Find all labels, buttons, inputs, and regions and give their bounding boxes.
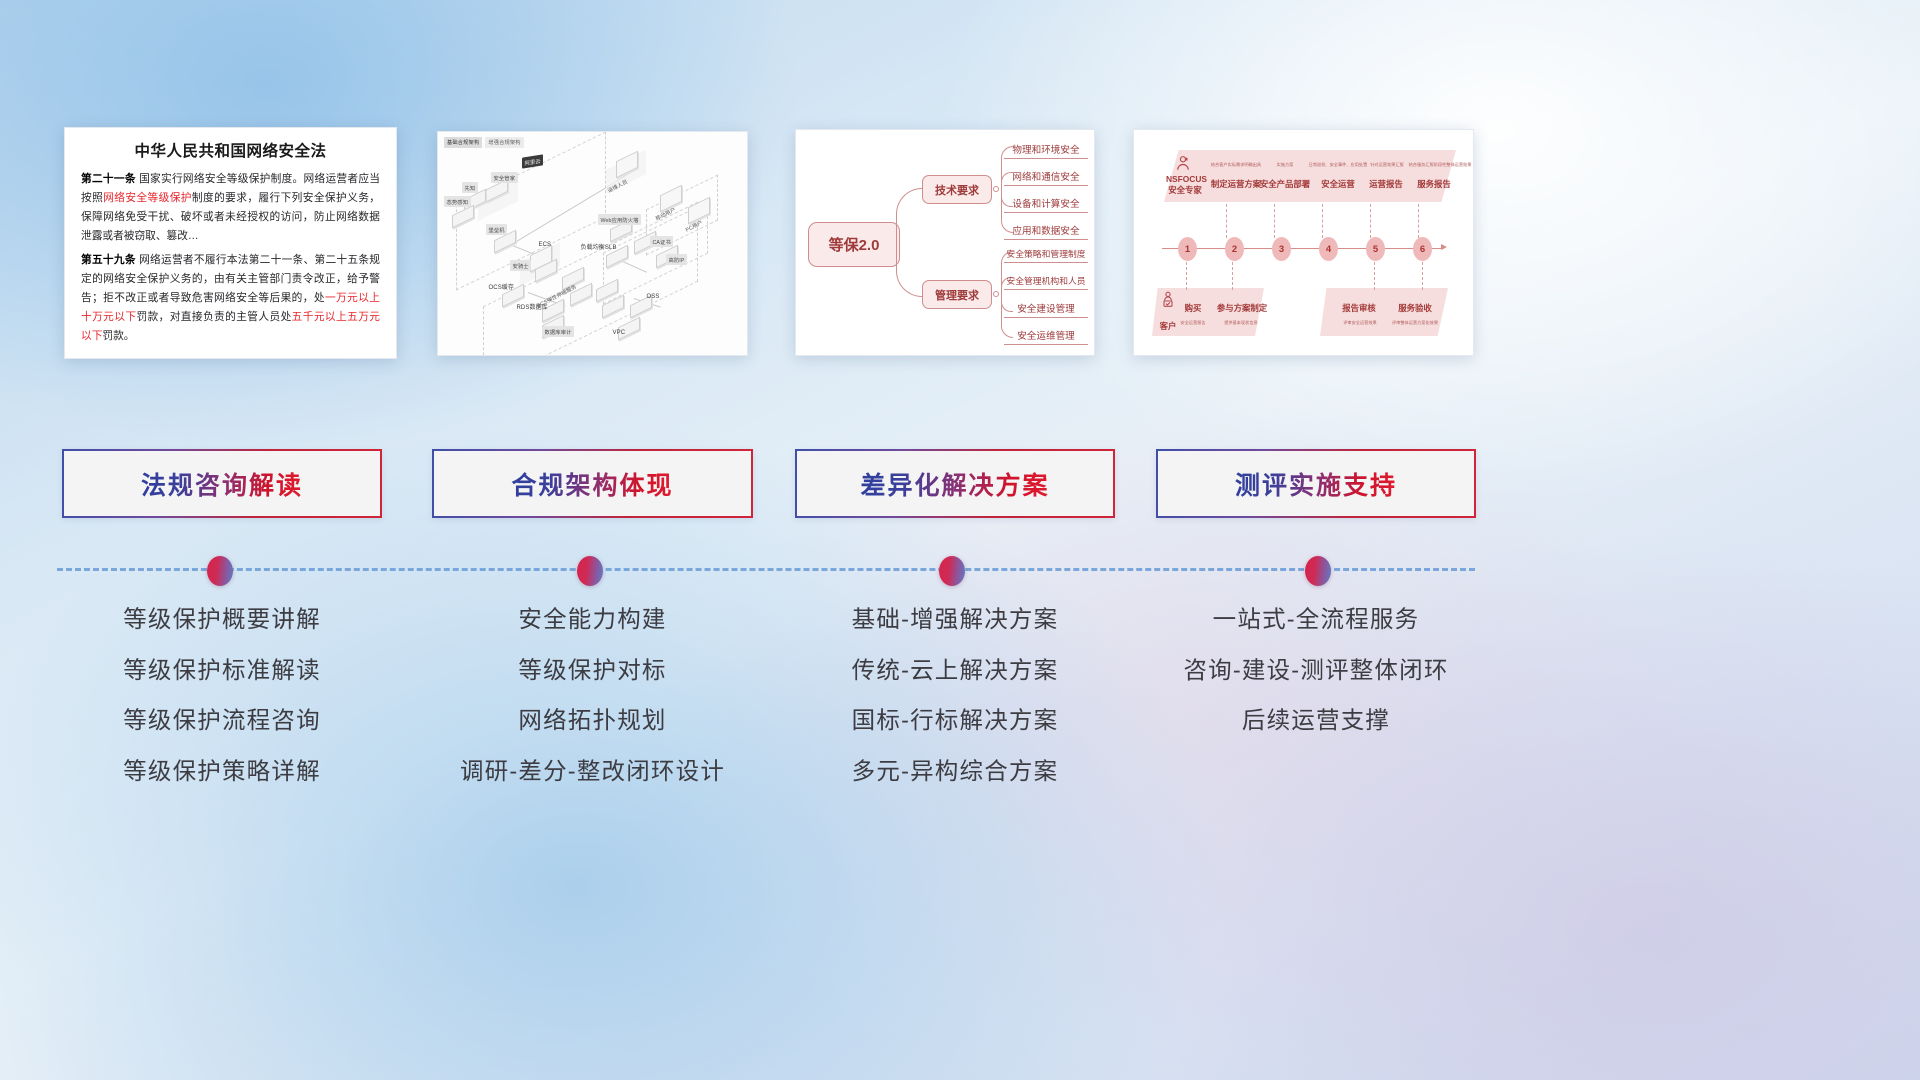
label-ca-cert: CA证书 [650,236,673,247]
list-item: 网络拓扑规划 [432,709,753,733]
mindmap-leaf-network-comm: 网络和通信安全 [1004,169,1088,186]
card-mindmap-dengbao[interactable]: 等保2.0 技术要求 管理要求 物理和环境安全 网络和通信安全 设备和计算安全 … [795,129,1095,356]
list-item: 等级保护概要讲解 [62,608,382,632]
card-compliance-architecture[interactable]: 基础合规架构 增强合规架构 阿里云 安全管家 [437,131,748,356]
tab-basic-architecture[interactable]: 基础合规架构 [444,137,482,148]
mindmap-root: 等保2.0 [808,222,900,267]
list-item: 调研-差分-整改闭环设计 [432,760,753,784]
mindmap-leaf-device-compute: 设备和计算安全 [1004,196,1088,213]
section-header-row: 法规咨询解读 合规架构体现 差异化解决方案 测评实施支持 [0,449,1920,519]
mindmap-leaf-physical-env: 物理和环境安全 [1004,142,1088,159]
bottom-title-4: 服务验收 [1392,302,1438,314]
dash-top-2 [1226,204,1227,238]
timeline-marker-1[interactable] [207,556,233,586]
list-item: 等级保护标准解读 [62,659,382,683]
timeline-dashed-line [57,568,1475,571]
step-circle-6[interactable]: 6 [1413,237,1432,261]
label-anqishi: 安骑士 [510,260,531,271]
list-item: 等级保护策略详解 [62,760,382,784]
label-bastion-host: 堡垒机 [486,224,507,235]
dash-bottom-4 [1422,262,1423,290]
list-item: 多元-异构综合方案 [795,760,1115,784]
section-header-regulation-consulting[interactable]: 法规咨询解读 [62,449,382,518]
dash-bottom-2 [1232,262,1233,290]
list-item: 国标-行标解决方案 [795,709,1115,733]
label-security-steward: 安全管家 [491,172,518,183]
process-timeline [0,568,1920,572]
collapse-dot-management[interactable] [993,291,999,297]
architecture-tabs: 基础合规架构 增强合规架构 [444,137,524,148]
clause-59-text-c: 罚款。 [102,330,134,342]
step-circle-2[interactable]: 2 [1225,237,1244,261]
law-clause-21: 第二十一条 国家实行网络安全等级保护制度。网络运营者应当按照网络安全等级保护制度… [81,170,380,246]
list-item: 一站式-全流程服务 [1156,608,1476,632]
bottom-sub-4: 评审整体运营方案化效果 [1384,320,1446,326]
clause-59-text-b: 罚款，对直接负责的主管人员处 [136,311,291,323]
label-slb: 负载均衡SLB [578,240,619,252]
label-ecs: ECS [536,240,554,249]
bullet-column-regulation-consulting: 等级保护概要讲解 等级保护标准解读 等级保护流程咨询 等级保护策略详解 [62,608,382,810]
timeline-axis [1162,248,1444,249]
law-clause-59: 第五十九条 网络运营者不履行本法第二十一条、第二十五条规定的网络安全保护义务的，… [81,251,380,346]
label-oss: OSS [644,292,662,301]
dash-top-6 [1418,204,1419,238]
bottom-title-2: 参与方案制定 [1214,302,1270,314]
list-item: 等级保护对标 [432,659,753,683]
clause-59-label: 第五十九条 [81,254,136,266]
mindmap-leaf-policy-system: 安全策略和管理制度 [1004,247,1088,263]
customer-person-icon [1160,290,1176,308]
timeline-marker-4[interactable] [1305,556,1331,586]
timeline-arrow-icon [1441,244,1447,250]
nsfocus-timeline: NSFOCUS 安全专家 客户 1 2 3 4 5 6 结合客户实际需求明确出具… [1134,130,1473,355]
step-circle-4[interactable]: 4 [1319,237,1338,261]
label-xianzhi: 先知 [462,182,478,193]
label-ocs-cache: OCS缓存 [486,280,517,292]
brand-name: NSFOCUS [1166,174,1204,184]
slide-canvas: 中华人民共和国网络安全法 第二十一条 国家实行网络安全等级保护制度。网络运营者应… [0,0,1920,1080]
timeline-marker-3[interactable] [939,556,965,586]
section-header-label-2: 合规架构体现 [511,466,673,502]
mindmap-leaf-ops-mgmt: 安全运维管理 [1004,328,1088,345]
label-vpc: VPC [610,328,628,337]
section-header-label-3: 差异化解决方案 [860,466,1049,502]
section-header-assessment-support[interactable]: 测评实施支持 [1156,449,1476,518]
mindmap-branch-technical: 技术要求 [922,175,992,204]
expert-band [1164,150,1456,202]
clause-21-highlight: 网络安全等级保护 [103,192,192,204]
bottom-title-3: 报告审核 [1336,302,1382,314]
bullet-column-compliance-architecture: 安全能力构建 等级保护对标 网络拓扑规划 调研-差分-整改闭环设计 [432,608,753,810]
brand-subtitle: 安全专家 [1166,184,1204,196]
card-cybersecurity-law[interactable]: 中华人民共和国网络安全法 第二十一条 国家实行网络安全等级保护制度。网络运营者应… [64,127,397,359]
dash-bottom-1 [1186,262,1187,290]
label-situation-awareness: 态势感知 [444,196,471,207]
label-waf: Web应用防火墙 [598,214,641,225]
list-item: 基础-增强解决方案 [795,608,1115,632]
section-header-differentiated-solutions[interactable]: 差异化解决方案 [795,449,1115,518]
mindmap-branch-management: 管理要求 [922,280,992,309]
mindmap-leaf-org-personnel: 安全管理机构和人员 [1004,274,1088,290]
dash-bottom-3 [1374,262,1375,290]
section-header-label-1: 法规咨询解读 [141,466,303,502]
collapse-dot-technical[interactable] [993,186,999,192]
dash-top-3 [1274,204,1275,238]
mindmap-diagram: 等保2.0 技术要求 管理要求 物理和环境安全 网络和通信安全 设备和计算安全 … [796,130,1094,355]
top-sub-5: 结合服务汇报阶段性整体运营效果 [1402,162,1474,168]
architecture-diagram: 基础合规架构 增强合规架构 阿里云 安全管家 [438,132,747,355]
section-header-label-4: 测评实施支持 [1235,466,1397,502]
dash-top-4 [1322,204,1323,238]
list-item: 传统-云上解决方案 [795,659,1115,683]
bullet-column-assessment-support: 一站式-全流程服务 咨询-建设-测评整体闭环 后续运营支撑 [1156,608,1476,760]
tab-enhanced-architecture[interactable]: 增强合规架构 [485,137,523,148]
card-service-process-timeline[interactable]: NSFOCUS 安全专家 客户 1 2 3 4 5 6 结合客户实际需求明确出具… [1133,129,1474,356]
top-title-5: 服务报告 [1406,178,1462,190]
dash-top-5 [1370,204,1371,238]
bottom-sub-2: 提供基本现状信息 [1216,320,1266,326]
bottom-title-1: 购买 [1178,302,1208,314]
list-item: 咨询-建设-测评整体闭环 [1156,659,1476,683]
bullet-column-differentiated-solutions: 基础-增强解决方案 传统-云上解决方案 国标-行标解决方案 多元-异构综合方案 [795,608,1115,810]
section-header-compliance-architecture[interactable]: 合规架构体现 [432,449,753,518]
list-item: 后续运营支撑 [1156,709,1476,733]
bottom-sub-1: 安全运营报告 [1174,320,1212,326]
mindmap-leaf-construction-mgmt: 安全建设管理 [1004,301,1088,318]
timeline-marker-2[interactable] [577,556,603,586]
law-body: 中华人民共和国网络安全法 第二十一条 国家实行网络安全等级保护制度。网络运营者应… [65,128,396,359]
list-item: 等级保护流程咨询 [62,709,382,733]
list-item: 安全能力构建 [432,608,753,632]
law-title: 中华人民共和国网络安全法 [81,139,380,161]
top-sub-1: 结合客户实际需求明确出具 [1206,162,1266,168]
step-circle-5[interactable]: 5 [1366,237,1385,261]
illustration-card-row: 中华人民共和国网络安全法 第二十一条 国家实行网络安全等级保护制度。网络运营者应… [0,127,1920,359]
expert-person-icon [1174,154,1192,172]
label-db-audit: 数据库审计 [542,326,574,337]
bullet-column-row: 等级保护概要讲解 等级保护标准解读 等级保护流程咨询 等级保护策略详解 安全能力… [0,608,1920,838]
top-title-2: 安全产品部署 [1254,178,1316,190]
top-sub-2: 实施方案 [1260,162,1310,168]
bottom-sub-3: 评审安全运营效果 [1332,320,1388,326]
label-anti-ddos: 高防IP [666,254,687,265]
clause-21-label: 第二十一条 [81,173,136,185]
mindmap-leaf-app-data: 应用和数据安全 [1004,223,1088,240]
step-circle-3[interactable]: 3 [1272,237,1291,261]
step-circle-1[interactable]: 1 [1178,237,1197,261]
